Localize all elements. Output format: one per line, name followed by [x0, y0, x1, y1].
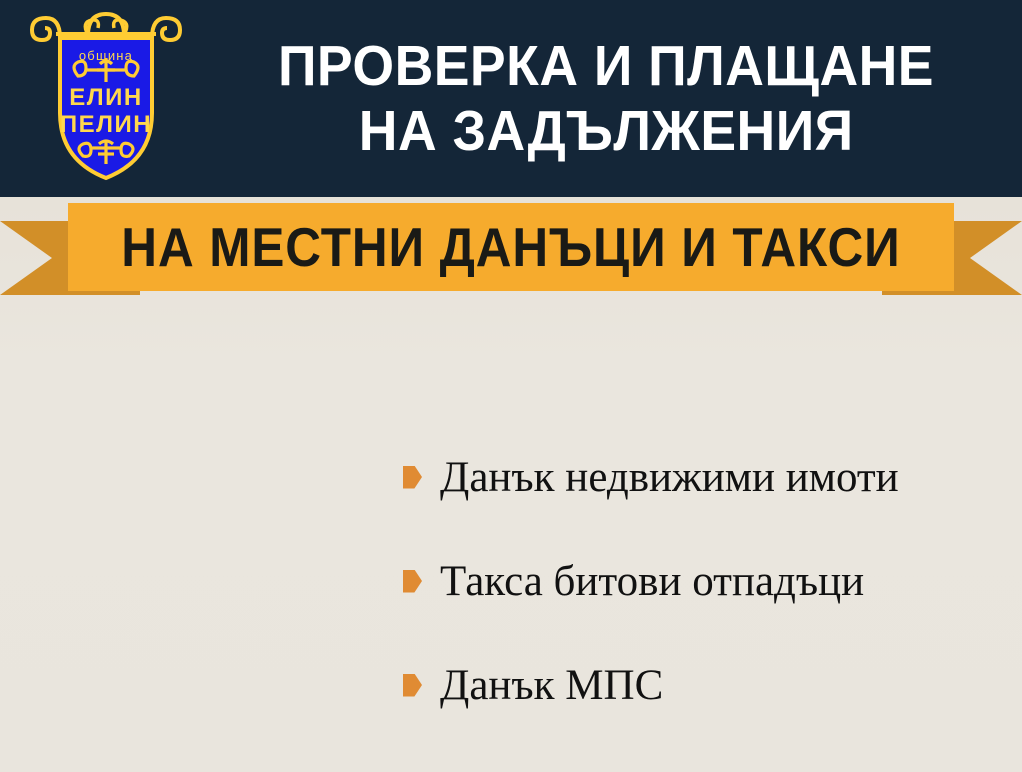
tax-type-list: Данък недвижими имоти Такса битови отпад… [403, 425, 1008, 737]
header-title-line-2: НА ЗАДЪЛЖЕНИЯ [359, 102, 854, 160]
car-front-icon [141, 582, 278, 704]
crest-svg: община ЕЛИН ПЕЛИН [26, 8, 186, 188]
arrow-bullet-icon [403, 570, 422, 593]
stamp-card-property [26, 315, 219, 508]
list-item[interactable]: Данък недвижими имоти [403, 425, 1008, 529]
list-item-label: Такса битови отпадъци [440, 560, 864, 603]
stamp-inner-panel [40, 329, 205, 494]
list-item[interactable]: Такса битови отпадъци [403, 529, 1008, 633]
ribbon-label: НА МЕСТНИ ДАНЪЦИ И ТАКСИ [121, 215, 900, 279]
arrow-bullet-icon [403, 674, 422, 697]
arrow-bullet-icon [403, 466, 422, 489]
list-item[interactable]: Данък МПС [403, 633, 1008, 737]
header-bar: община ЕЛИН ПЕЛИН [0, 0, 1022, 197]
list-item-label: Данък МПС [440, 664, 663, 707]
crest-name-line2: ПЕЛИН [60, 111, 152, 138]
house-icon [62, 355, 182, 466]
subtitle-ribbon: НА МЕСТНИ ДАНЪЦИ И ТАКСИ [0, 203, 1022, 295]
municipality-crest-logo: община ЕЛИН ПЕЛИН [26, 8, 186, 188]
list-item-label: Данък недвижими имоти [440, 456, 899, 499]
crest-name-line1: ЕЛИН [69, 84, 142, 111]
ribbon-banner: НА МЕСТНИ ДАНЪЦИ И ТАКСИ [68, 203, 954, 291]
stamp-inner-panel [106, 539, 315, 748]
poster-canvas: община ЕЛИН ПЕЛИН [0, 0, 1022, 772]
header-title-block: ПРОВЕРКА И ПЛАЩАНЕ НА ЗАДЪЛЖЕНИЯ [190, 0, 1022, 197]
trash-can-icon [246, 427, 347, 538]
header-title-line-1: ПРОВЕРКА И ПЛАЩАНЕ [278, 37, 934, 95]
